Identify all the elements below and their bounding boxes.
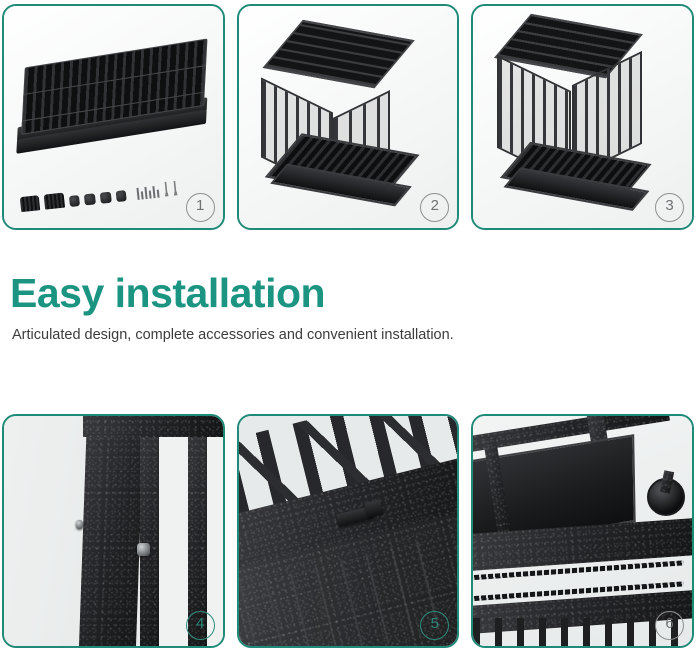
rubber-foot-part	[85, 193, 97, 205]
frame-bar	[140, 416, 160, 646]
caster-wheel-part	[20, 195, 41, 212]
cage-base-with-roof-illustration	[239, 6, 458, 228]
steps-row-bottom: 4 5	[0, 414, 696, 648]
bolt-fastener	[76, 520, 83, 529]
headline-block: Easy installation Articulated design, co…	[10, 272, 686, 343]
step-panel-4[interactable]: 4	[2, 414, 225, 648]
step-panel-1[interactable]: 1	[2, 4, 225, 230]
caster-wheel-part	[44, 192, 65, 209]
step-badge: 4	[186, 611, 215, 640]
step-2-photo	[239, 6, 458, 228]
steps-row-top: 1	[0, 4, 696, 230]
rubber-foot-part	[69, 195, 81, 207]
rubber-foot-part	[100, 191, 112, 203]
step-panel-6[interactable]: 6	[471, 414, 694, 648]
step-1-photo	[4, 6, 223, 228]
step-5-photo	[239, 416, 458, 646]
roof-panel	[262, 20, 414, 89]
step-badge: 3	[655, 193, 684, 222]
frame-top-rail	[83, 416, 223, 437]
step-badge: 6	[655, 611, 684, 640]
page-subtitle: Articulated design, complete accessories…	[12, 327, 686, 343]
frame-bolt-closeup-illustration	[4, 416, 223, 646]
frame-post	[78, 416, 144, 646]
assembled-cage-illustration	[473, 6, 692, 228]
bolt-fastener	[137, 543, 150, 556]
installation-infographic: 1	[0, 0, 696, 650]
hinge-closeup-illustration	[239, 416, 458, 646]
step-panel-5[interactable]: 5	[237, 414, 460, 648]
step-3-photo	[473, 6, 692, 228]
page-title: Easy installation	[10, 272, 686, 315]
rubber-foot-part	[116, 190, 128, 202]
step-6-photo	[473, 416, 692, 646]
screws-and-tools-part	[137, 180, 178, 199]
flatpack-stack-illustration	[15, 34, 211, 173]
step-4-photo	[4, 416, 223, 646]
step-badge: 1	[186, 193, 215, 222]
step-panel-3[interactable]: 3	[471, 4, 694, 230]
step-panel-2[interactable]: 2	[237, 4, 460, 230]
slideout-tray-closeup-illustration	[473, 416, 692, 646]
